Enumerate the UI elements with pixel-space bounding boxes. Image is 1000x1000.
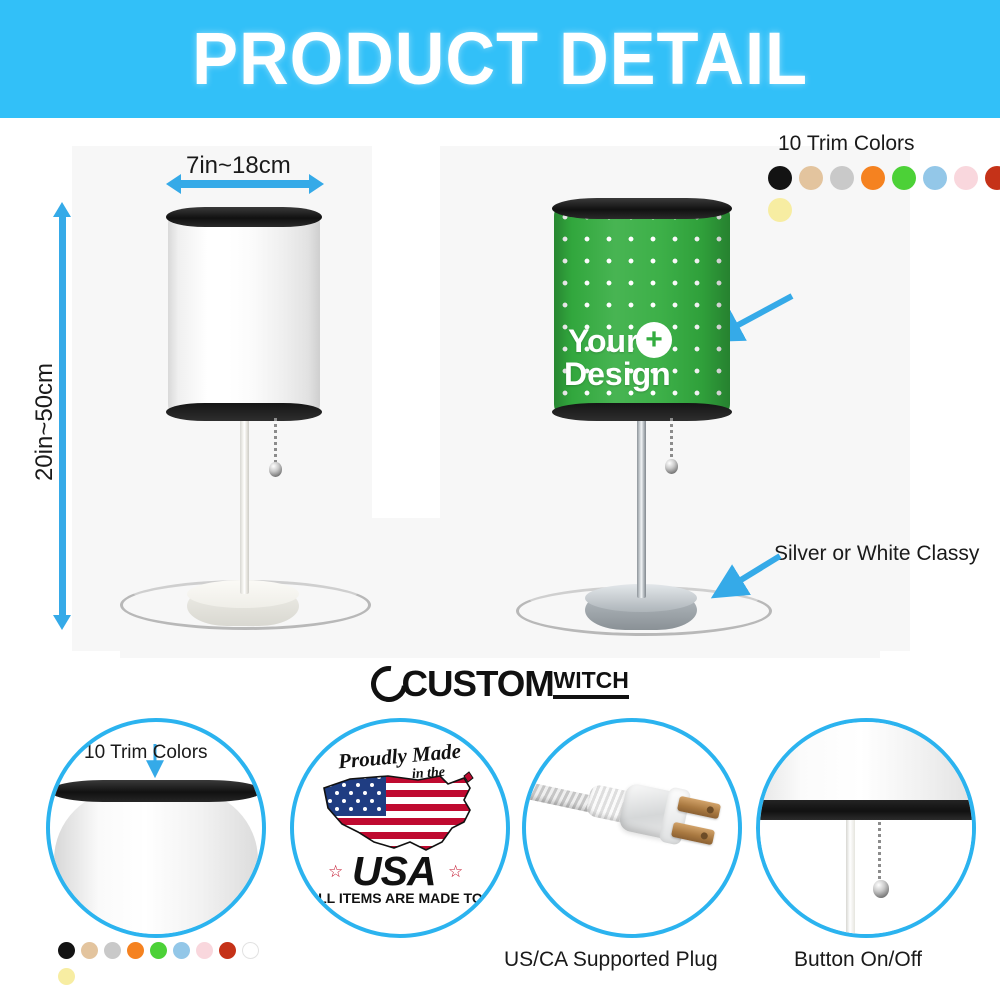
- logo-word-witch-wrap: WITCH: [553, 669, 628, 699]
- badge-line-usa: USA: [352, 848, 436, 895]
- badge-line-made-to-order: ALL ITEMS ARE MADE TO ORDER!: [308, 890, 510, 906]
- trim-colors-swatch-row-2-bottom: [58, 968, 75, 985]
- usa-badge-illustration: Proudly Made in the: [294, 722, 506, 934]
- usa-map-flag-icon: [314, 770, 486, 860]
- swatch-red[interactable]: [985, 166, 1000, 190]
- swatch-light-blue[interactable]: [923, 166, 947, 190]
- pull-chain-switch[interactable]: [878, 822, 881, 884]
- shade-design-line-1: Your: [568, 325, 639, 358]
- lamp-pole-silver: [637, 416, 646, 598]
- logo-word-witch: WITCH: [553, 669, 628, 692]
- page-header-banner: PRODUCT DETAIL: [0, 0, 1000, 118]
- lamp-pole-white: [240, 416, 249, 594]
- swatch-sm-white[interactable]: [242, 942, 259, 959]
- plus-icon: +: [645, 325, 663, 355]
- feature-caption-switch: Button On/Off: [794, 948, 922, 972]
- feature-caption-plug: US/CA Supported Plug: [504, 948, 718, 972]
- trim-colors-swatch-row-1-bottom: [58, 942, 259, 959]
- page-title: PRODUCT DETAIL: [192, 22, 808, 96]
- arrow-down-left-icon-2: [700, 548, 790, 608]
- lamp-white: [0, 118, 420, 658]
- feature-circle-switch: [756, 718, 976, 938]
- swatch-sm-light-blue[interactable]: [173, 942, 190, 959]
- prong-hole-lower: [700, 832, 708, 840]
- product-detail-page: PRODUCT DETAIL 10 Trim Colors: [0, 0, 1000, 1000]
- swatch-sm-tan[interactable]: [81, 942, 98, 959]
- brand-logo: CUSTOM WITCH: [0, 660, 1000, 708]
- shade-trim-top-white: [166, 207, 322, 227]
- star-left-icon: ☆: [328, 862, 343, 882]
- prong-hole-upper: [706, 806, 714, 814]
- main-stage: 10 Trim Colors 7in~18cm: [0, 118, 1000, 698]
- logo-word-custom: CUSTOM: [402, 663, 554, 705]
- swatch-sm-orange[interactable]: [127, 942, 144, 959]
- swatch-sm-green[interactable]: [150, 942, 167, 959]
- pull-chain-ball-silver: [665, 459, 678, 474]
- plug-illustration: [526, 722, 738, 934]
- swatch-sm-black[interactable]: [58, 942, 75, 959]
- shade-surface-white: [168, 214, 320, 414]
- swatch-orange[interactable]: [861, 166, 885, 190]
- pull-chain-ball-white: [269, 462, 282, 477]
- base-finish-callout-label: Silver or White Classy: [774, 542, 979, 566]
- trim-colors-title-bottom: 10 Trim Colors: [84, 742, 208, 764]
- lamp-shade-green: Your + Design: [554, 206, 730, 414]
- swatch-green[interactable]: [892, 166, 916, 190]
- shade-trim-bottom-green: [552, 403, 732, 421]
- base-finish-pointer-arrow: [700, 548, 790, 608]
- swatch-sm-pink[interactable]: [196, 942, 213, 959]
- feature-circle-trim-colors: 10 Trim Colors: [46, 718, 266, 938]
- logo-underline: [553, 695, 628, 699]
- shade-design-line-2: Design: [564, 358, 671, 391]
- star-right-icon: ☆: [448, 862, 463, 882]
- swatch-pink[interactable]: [954, 166, 978, 190]
- pull-chain-ball-switch[interactable]: [873, 880, 889, 898]
- shade-plus-badge: +: [636, 322, 672, 358]
- feature-circle-plug: [522, 718, 742, 938]
- shade-trim-bottom-white: [166, 403, 322, 421]
- swatch-sm-red[interactable]: [219, 942, 236, 959]
- feature-circle-made-in-usa: Proudly Made in the: [290, 718, 510, 938]
- shade-trim-top-green: [552, 198, 732, 219]
- swatch-sm-gray[interactable]: [104, 942, 121, 959]
- swatch-sm-yellow[interactable]: [58, 968, 75, 985]
- switch-illustration: [760, 722, 972, 934]
- lamp-shade-white: [168, 214, 320, 414]
- pull-chain-white: [274, 418, 277, 466]
- pull-chain-silver: [670, 418, 673, 463]
